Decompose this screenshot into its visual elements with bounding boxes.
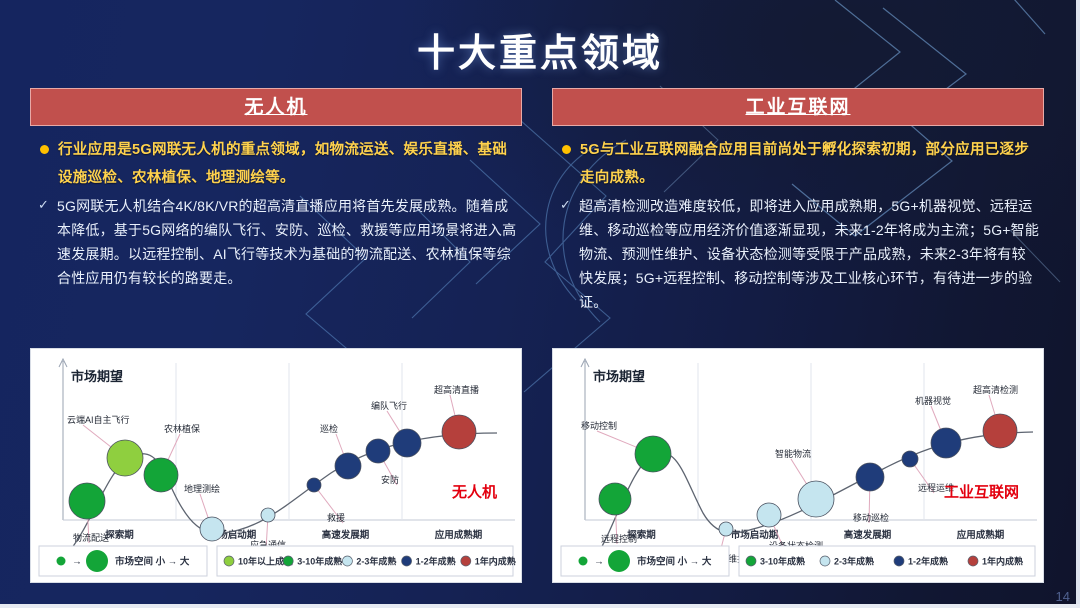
bullet-text: 超高清检测改造难度较低，即将进入应用成熟期，5G+机器视觉、远程运维、移动巡检等… <box>579 194 1040 314</box>
bubble-巡检[interactable] <box>335 453 361 479</box>
bubble-地理测绘[interactable] <box>200 517 224 541</box>
hype-cycle-chart-drone: 探索期市场启动期高速发展期应用成熟期市场期望物流配送云端AI自主飞行农林植保地理… <box>31 349 523 584</box>
bubble-编队飞行[interactable] <box>393 429 421 457</box>
maturity-legend-label: 1-2年成熟 <box>908 556 948 567</box>
maturity-legend-swatch <box>968 556 978 566</box>
maturity-legend-label: 2-3年成熟 <box>356 556 396 567</box>
dot-bullet-icon <box>40 145 49 154</box>
size-legend-large-icon <box>608 550 630 572</box>
bubble-云端AI自主飞行[interactable] <box>107 440 143 476</box>
maturity-legend-swatch <box>894 556 904 566</box>
maturity-legend-swatch <box>283 556 293 566</box>
section-header-iiot: 工业互联网 <box>552 88 1044 126</box>
bubble-应急通信[interactable] <box>261 508 275 522</box>
bubble-移动控制[interactable] <box>635 436 671 472</box>
maturity-legend-label: 3-10年成熟 <box>297 556 342 567</box>
bubble-机器视觉[interactable] <box>931 428 961 458</box>
bubble-远程运维[interactable] <box>902 451 918 467</box>
chart-card-iiot: 探索期市场启动期高速发展期应用成熟期市场期望远程控制移动控制预测性维护设备状态检… <box>552 348 1044 583</box>
bubble-label: 智能物流 <box>775 448 811 459</box>
bubble-label: 云端AI自主飞行 <box>67 414 130 425</box>
maturity-legend-label: 1年内成熟 <box>982 556 1023 567</box>
bullet-item: ✓ 超高清检测改造难度较低，即将进入应用成熟期，5G+机器视觉、远程运维、移动巡… <box>556 194 1040 314</box>
bubble-label: 农林植保 <box>164 423 200 434</box>
bubble-设备状态检测[interactable] <box>757 503 781 527</box>
check-icon: ✓ <box>560 198 573 211</box>
bubble-label: 编队飞行 <box>371 400 407 411</box>
bubble-label: 安防 <box>381 474 399 485</box>
size-legend-small-icon <box>579 557 588 566</box>
bubble-label: 远程控制 <box>601 533 637 544</box>
bubble-超高清直播[interactable] <box>442 415 476 449</box>
size-legend-label: 市场空间 小 → 大 <box>115 556 190 568</box>
bubble-label: 物流配送 <box>73 532 109 543</box>
bullet-item: 行业应用是5G网联无人机的重点领域，如物流运送、娱乐直播、基础设施巡检、农林植保… <box>34 136 518 192</box>
dot-bullet-icon <box>562 145 571 154</box>
phase-label: 应用成熟期 <box>435 529 483 541</box>
maturity-legend-label: 1年内成熟 <box>475 556 516 567</box>
bullet-text: 5G与工业互联网融合应用目前尚处于孵化探索初期，部分应用已逐步走向成熟。 <box>580 136 1040 192</box>
bubble-label: 巡检 <box>320 423 338 434</box>
phase-label: 应用成熟期 <box>957 529 1005 541</box>
bubble-远程控制[interactable] <box>599 483 631 515</box>
chart-title: 市场期望 <box>71 369 123 384</box>
hype-cycle-chart-iiot: 探索期市场启动期高速发展期应用成熟期市场期望远程控制移动控制预测性维护设备状态检… <box>553 349 1045 584</box>
column-drone: 无人机 行业应用是5G网联无人机的重点领域，如物流运送、娱乐直播、基础设施巡检、… <box>30 88 522 292</box>
bullet-list-drone: 行业应用是5G网联无人机的重点领域，如物流运送、娱乐直播、基础设施巡检、农林植保… <box>30 126 522 290</box>
bubble-农林植保[interactable] <box>144 458 178 492</box>
bullet-list-iiot: 5G与工业互联网融合应用目前尚处于孵化探索初期，部分应用已逐步走向成熟。 ✓ 超… <box>552 126 1044 314</box>
bubble-label: 超高清直播 <box>434 384 479 395</box>
size-legend-label: 市场空间 小 → 大 <box>637 556 712 568</box>
size-legend-arrow-icon: → <box>594 557 604 568</box>
bubble-智能物流[interactable] <box>798 481 834 517</box>
page-title: 十大重点领域 <box>0 22 1080 77</box>
size-legend-arrow-icon: → <box>72 557 82 568</box>
bubble-安防[interactable] <box>366 439 390 463</box>
phase-label: 高速发展期 <box>844 529 892 541</box>
bullet-text: 5G网联无人机结合4K/8K/VR的超高清直播应用将首先发展成熟。随着成本降低，… <box>57 194 518 290</box>
maturity-legend-swatch <box>402 556 412 566</box>
bubble-label: 移动巡检 <box>853 512 889 523</box>
bullet-item: ✓ 5G网联无人机结合4K/8K/VR的超高清直播应用将首先发展成熟。随着成本降… <box>34 194 518 290</box>
maturity-legend-label: 1-2年成熟 <box>416 556 456 567</box>
bullet-item: 5G与工业互联网融合应用目前尚处于孵化探索初期，部分应用已逐步走向成熟。 <box>556 136 1040 192</box>
brand-label: 工业互联网 <box>944 484 1019 501</box>
slide-edge-right <box>1076 0 1080 608</box>
phase-label: 探索期 <box>105 529 134 541</box>
column-iiot: 工业互联网 5G与工业互联网融合应用目前尚处于孵化探索初期，部分应用已逐步走向成… <box>552 88 1044 316</box>
maturity-legend-label: 2-3年成熟 <box>834 556 874 567</box>
bubble-label: 移动控制 <box>581 420 617 431</box>
chart-card-drone: 探索期市场启动期高速发展期应用成熟期市场期望物流配送云端AI自主飞行农林植保地理… <box>30 348 522 583</box>
maturity-legend-swatch <box>224 556 234 566</box>
size-legend-small-icon <box>57 557 66 566</box>
bubble-预测性维护[interactable] <box>719 522 733 536</box>
bubble-移动巡检[interactable] <box>856 463 884 491</box>
page-number: 14 <box>1056 589 1070 604</box>
check-icon: ✓ <box>38 198 51 211</box>
maturity-legend-swatch <box>461 556 471 566</box>
bullet-text: 行业应用是5G网联无人机的重点领域，如物流运送、娱乐直播、基础设施巡检、农林植保… <box>58 136 518 192</box>
bubble-label: 超高清检测 <box>973 384 1018 395</box>
bubble-label: 救援 <box>327 512 345 523</box>
size-legend-large-icon <box>86 550 108 572</box>
phase-label: 高速发展期 <box>322 529 370 541</box>
bubble-超高清检测[interactable] <box>983 414 1017 448</box>
maturity-legend-swatch <box>746 556 756 566</box>
bubble-救援[interactable] <box>307 478 321 492</box>
chart-title: 市场期望 <box>593 369 645 384</box>
brand-label: 无人机 <box>451 483 497 501</box>
bubble-label: 机器视觉 <box>915 395 951 406</box>
maturity-legend-swatch <box>342 556 352 566</box>
maturity-legend-swatch <box>820 556 830 566</box>
slide-root: 十大重点领域 无人机 行业应用是5G网联无人机的重点领域，如物流运送、娱乐直播、… <box>0 0 1080 608</box>
maturity-legend-label: 3-10年成熟 <box>760 556 805 567</box>
bubble-label: 地理测绘 <box>184 483 220 494</box>
section-header-drone: 无人机 <box>30 88 522 126</box>
bubble-物流配送[interactable] <box>69 483 105 519</box>
phase-label: 市场启动期 <box>731 529 779 541</box>
slide-edge-bottom <box>0 604 1080 608</box>
